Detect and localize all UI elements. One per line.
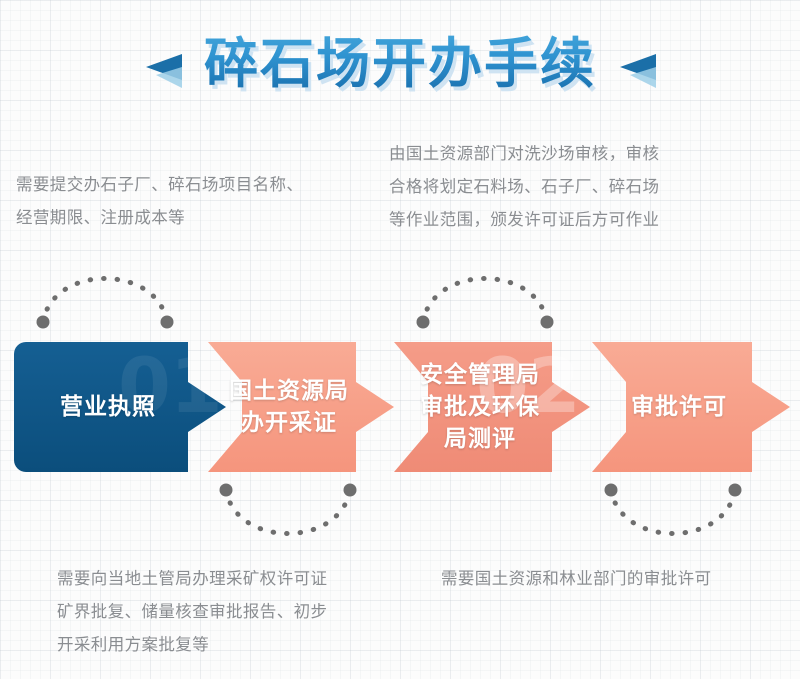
note-top-left: 需要提交办石子厂、碎石场项目名称、 经营期限、注册成本等 bbox=[16, 168, 376, 234]
dotted-arc-down-1 bbox=[218, 482, 358, 558]
flow-step-3-shape bbox=[394, 342, 590, 472]
flow-step-4-shape bbox=[592, 342, 790, 472]
flow-step-3[interactable]: 03 安全管理局 审批及环保 局测评 bbox=[394, 342, 590, 472]
header: 碎石场开办手续 碎石场开办手续 bbox=[0, 18, 800, 110]
flow-step-4[interactable]: 04 审批许可 bbox=[592, 342, 790, 472]
dotted-arc-up-2 bbox=[415, 258, 555, 334]
dotted-arc-up-1 bbox=[35, 258, 175, 334]
flow-step-1-shape bbox=[14, 342, 226, 472]
page-title: 碎石场开办手续 bbox=[0, 18, 800, 110]
note-bottom-left: 需要向当地土管局办理采矿权许可证 矿界批复、储量核查审批报告、初步 开采利用方案… bbox=[57, 562, 407, 661]
note-bottom-right: 需要国土资源和林业部门的审批许可 bbox=[441, 562, 791, 595]
flow-step-2-shape bbox=[208, 342, 394, 472]
process-flow: 01 营业执照 02 国土资源局 办开采证 bbox=[0, 336, 800, 478]
flow-step-2[interactable]: 02 国土资源局 办开采证 bbox=[208, 342, 394, 472]
triangle-left-icon bbox=[612, 54, 656, 88]
note-top-right: 由国土资源部门对洗沙场审核，审核 合格将划定石料场、石子厂、碎石场 等作业范围，… bbox=[389, 137, 749, 236]
flow-step-1[interactable]: 01 营业执照 bbox=[14, 342, 226, 472]
dotted-arc-down-2 bbox=[603, 482, 743, 558]
